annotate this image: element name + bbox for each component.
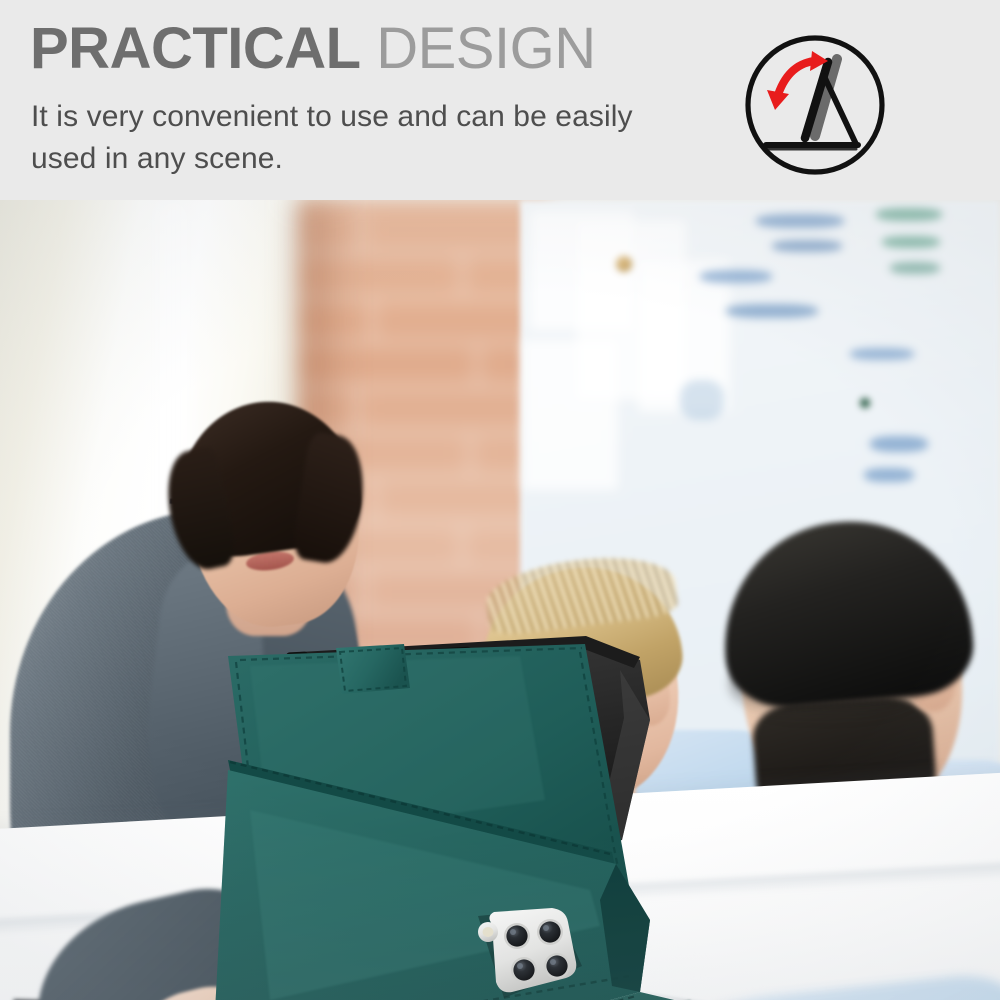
- page-title-bold: PRACTICAL: [30, 16, 361, 81]
- kickstand-adjustable-angle-icon: [742, 32, 888, 178]
- page-title: PRACTICAL DESIGN: [30, 18, 596, 80]
- camera-flash-led: [483, 927, 494, 937]
- camera-lens-3: [513, 959, 534, 980]
- page-subtitle: It is very convenient to use and can be …: [31, 96, 651, 180]
- camera-lens-2: [539, 921, 560, 942]
- camera-lens-4: [546, 955, 567, 976]
- lifestyle-photo: [0, 200, 1000, 1000]
- page-title-light: DESIGN: [376, 16, 595, 81]
- magnetic-closure-flap: [336, 644, 410, 694]
- header-band: PRACTICAL DESIGN It is very convenient t…: [0, 0, 1000, 200]
- camera-lens-1: [506, 925, 527, 946]
- leather-wallet-phone-case: [0, 200, 1000, 1000]
- product-marketing-banner: PRACTICAL DESIGN It is very convenient t…: [0, 0, 1000, 1000]
